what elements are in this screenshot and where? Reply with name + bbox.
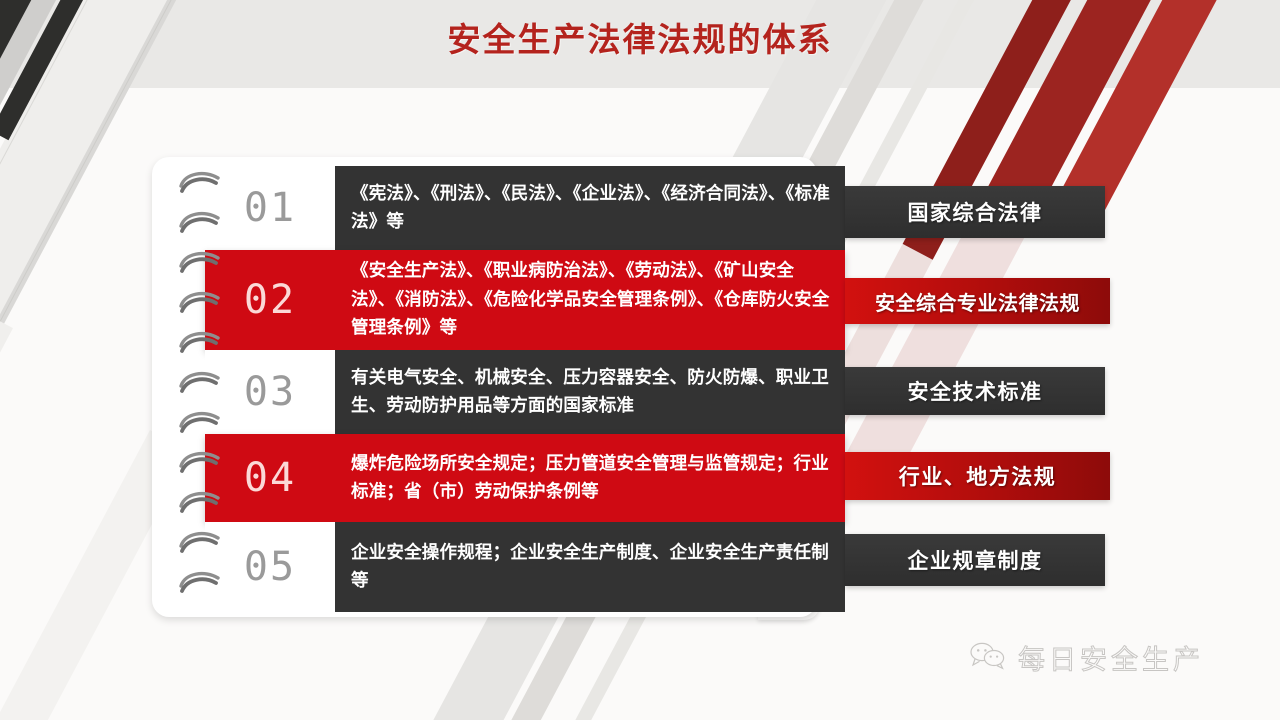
watermark: 每日安全生产 xyxy=(968,638,1204,677)
status-badge[interactable]: 行业、地方法规 xyxy=(845,452,1110,500)
page-title: 安全生产法律法规的体系 xyxy=(0,13,1280,61)
category-labels: 国家综合法律 安全综合专业法律法规 安全技术标准 行业、地方法规 企业规章制度 xyxy=(0,0,1280,720)
status-badge[interactable]: 安全技术标准 xyxy=(845,367,1105,415)
status-badge[interactable]: 国家综合法律 xyxy=(845,186,1105,238)
wechat-icon xyxy=(968,641,1008,675)
watermark-text: 每日安全生产 xyxy=(1018,638,1204,677)
status-badge[interactable]: 安全综合专业法律法规 xyxy=(845,278,1110,324)
status-badge[interactable]: 企业规章制度 xyxy=(845,534,1105,586)
